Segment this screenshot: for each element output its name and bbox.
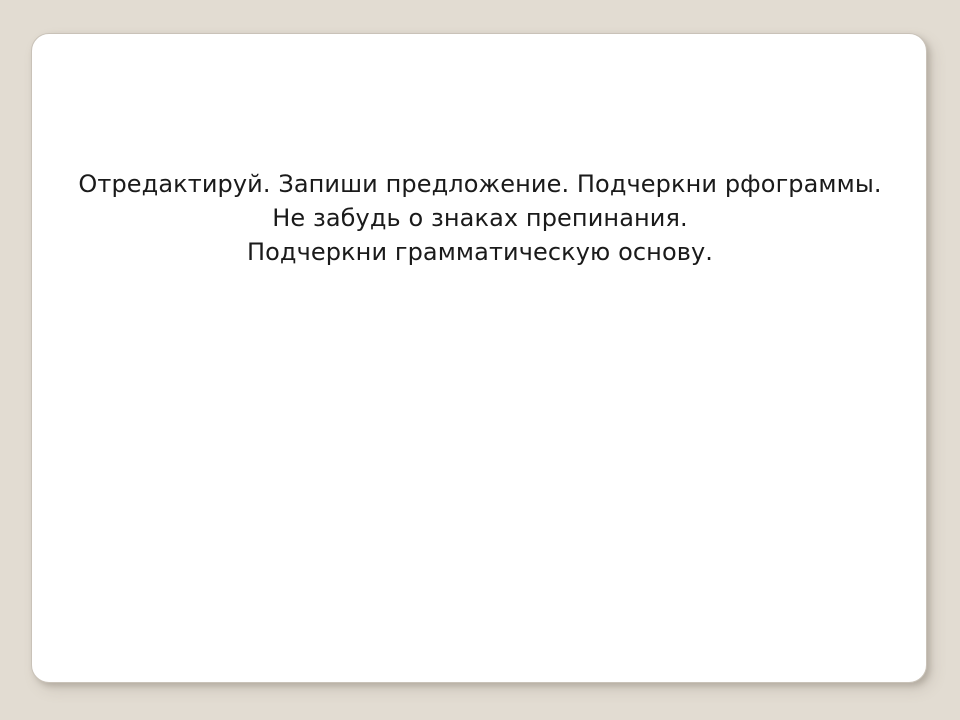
body-line-2: Не забудь о знаках препинания. xyxy=(44,201,916,235)
body-line-1: Отредактируй. Запиши предложение. Подчер… xyxy=(44,167,916,201)
slide-root: Отредактируй. Запиши предложение. Подчер… xyxy=(0,0,960,720)
body-line-3: Подчеркни грамматическую основу. xyxy=(44,235,916,269)
slide-card: Отредактируй. Запиши предложение. Подчер… xyxy=(31,33,927,683)
slide-body-text: Отредактируй. Запиши предложение. Подчер… xyxy=(44,167,916,269)
